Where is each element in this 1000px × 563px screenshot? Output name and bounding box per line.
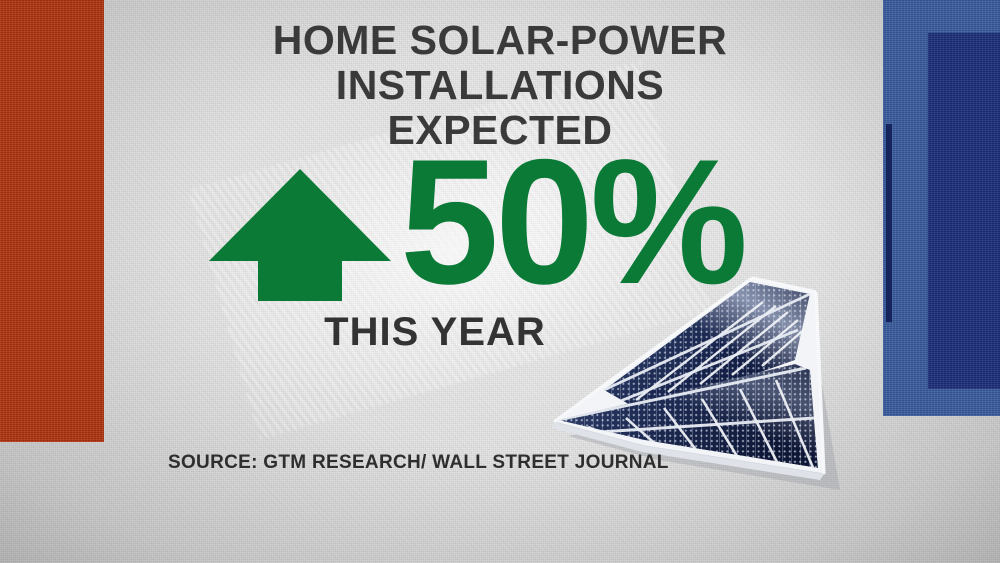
headline-line-1: HOME SOLAR-POWER: [0, 18, 1000, 63]
infographic-canvas: HOME SOLAR-POWER INSTALLATIONS EXPECTED …: [0, 0, 1000, 563]
source-attribution: SOURCE: GTM RESEARCH/ WALL STREET JOURNA…: [168, 452, 669, 474]
up-arrow-icon: [205, 165, 395, 303]
headline-line-2: INSTALLATIONS: [0, 63, 1000, 108]
